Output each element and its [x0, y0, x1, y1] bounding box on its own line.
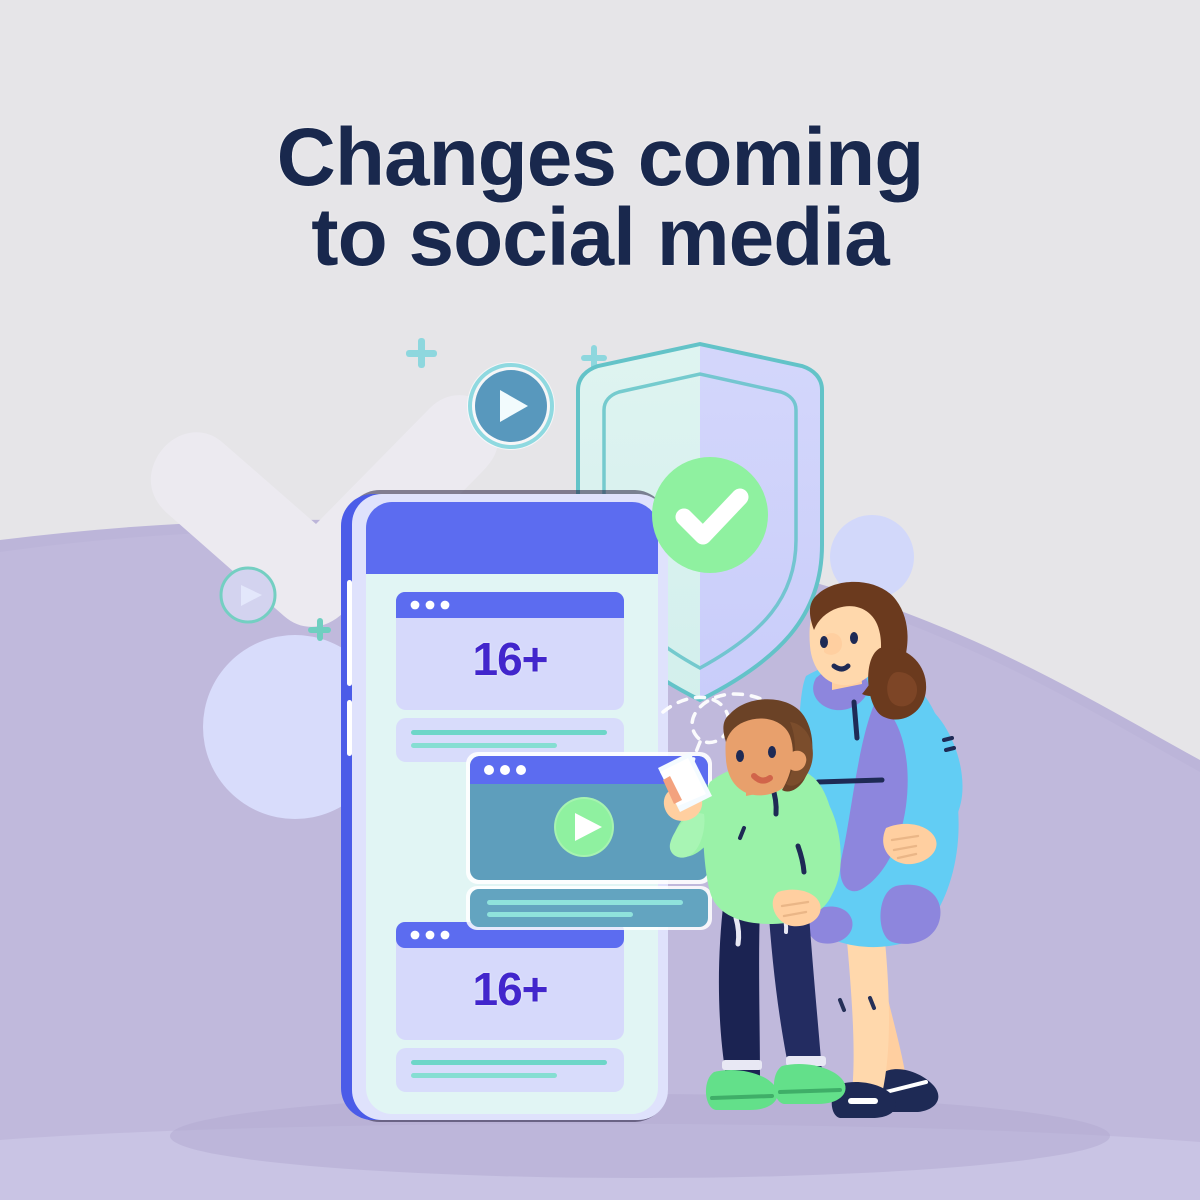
window-dot [411, 601, 420, 610]
window-dot [441, 601, 450, 610]
window-dot [426, 931, 435, 940]
video-play-button[interactable] [554, 797, 614, 857]
card-text-lines-3 [396, 1048, 624, 1092]
age-rating-label-2: 16+ [400, 962, 620, 1016]
illustration-canvas: Changes coming to social media 16+ 16+ [0, 0, 1200, 1200]
window-dot [484, 765, 494, 775]
window-dot [426, 601, 435, 610]
window-dot [516, 765, 526, 775]
floating-play-button[interactable] [467, 362, 555, 450]
window-dot [441, 931, 450, 940]
verified-check-badge [652, 457, 768, 573]
window-dot [500, 765, 510, 775]
window-dot [411, 931, 420, 940]
small-play-button[interactable] [221, 568, 275, 622]
phone-status-bar [366, 502, 658, 574]
card-text-lines-2 [466, 886, 712, 930]
social-media-illustration [0, 0, 1200, 1200]
phone-side-button[interactable] [347, 700, 352, 756]
phone-side-button[interactable] [347, 580, 352, 686]
age-rating-label-1: 16+ [400, 632, 620, 686]
